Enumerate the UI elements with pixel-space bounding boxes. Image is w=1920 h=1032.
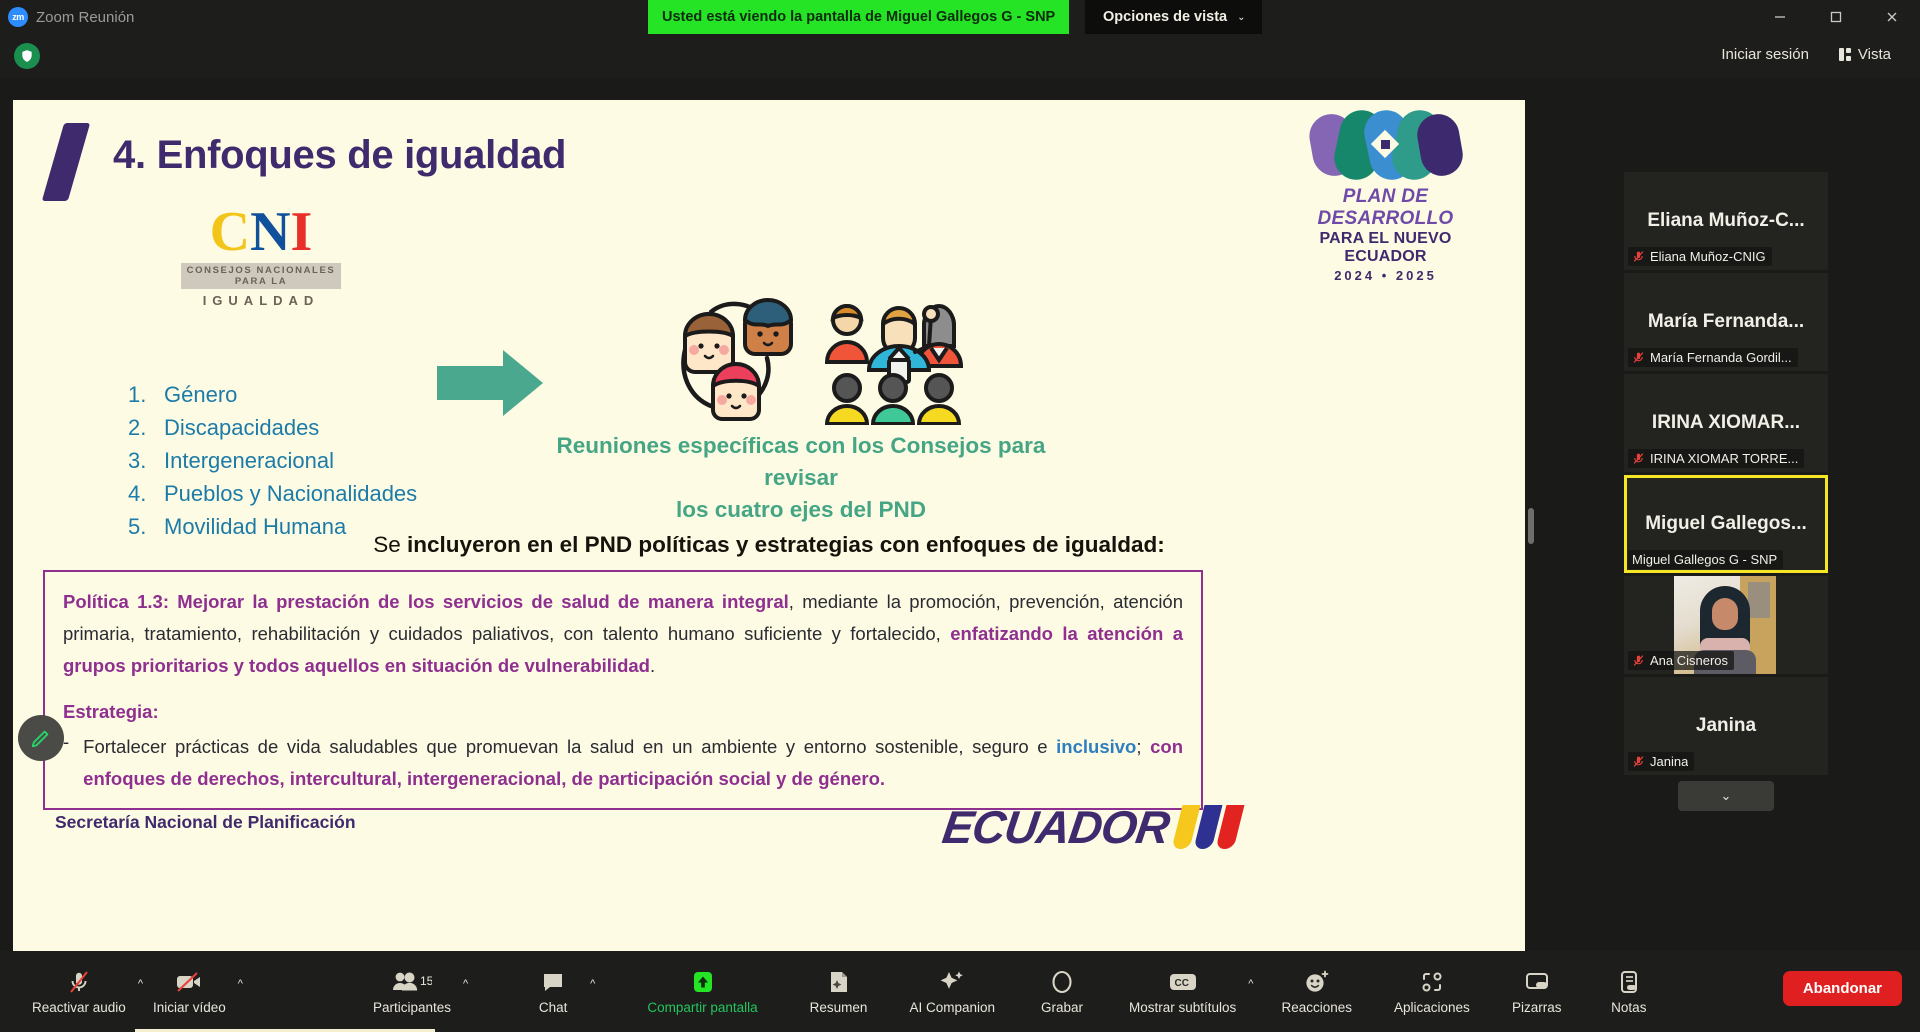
pnd-logo-line1: PLAN DE DESARROLLO — [1283, 186, 1488, 230]
strategy-text: Fortalecer prácticas de vida saludables … — [83, 731, 1183, 795]
leave-meeting-label: Abandonar — [1803, 980, 1882, 997]
participant-name-badge: Miguel Gallegos G - SNP — [1628, 550, 1783, 569]
chat-control-group: Chat ^ — [522, 957, 599, 1027]
audio-options-caret[interactable]: ^ — [134, 974, 147, 994]
chat-label: Chat — [539, 1000, 568, 1015]
participant-thumbnail-strip: Eliana Muñoz-C... Eliana Muñoz-CNIG Marí… — [1624, 172, 1828, 811]
included-statement-prefix: Se — [373, 532, 407, 557]
captions-control-group: CC Mostrar subtítulos ^ — [1123, 957, 1257, 1027]
mic-off-icon — [1632, 351, 1645, 364]
slide-accent-slash — [42, 123, 90, 201]
apps-label: Aplicaciones — [1394, 1000, 1470, 1015]
cni-subtitle-2: IGUALDAD — [181, 293, 341, 308]
participant-name-badge: IRINA XIOMAR TORRE... — [1628, 449, 1804, 468]
view-layout-label: Vista — [1858, 46, 1891, 63]
ecuador-logo: ECUADOR — [943, 800, 1239, 854]
participant-name-text: IRINA XIOMAR TORRE... — [1650, 451, 1798, 466]
screen-share-banner-text: Usted está viendo la pantalla de Miguel … — [662, 9, 1055, 25]
participant-name-text: Miguel Gallegos G - SNP — [1632, 552, 1777, 567]
mic-off-icon — [1632, 452, 1645, 465]
closed-captions-icon: CC — [1169, 969, 1197, 995]
leave-meeting-button[interactable]: Abandonar — [1783, 971, 1902, 1006]
chat-button[interactable]: Chat — [522, 957, 584, 1027]
start-video-label: Iniciar vídeo — [153, 1000, 226, 1015]
meeting-header-actions: Iniciar sesión Vista — [1710, 41, 1902, 68]
ai-companion-button[interactable]: AI Companion — [903, 957, 1001, 1027]
strategy-inclusivo: inclusivo — [1056, 736, 1136, 757]
chat-icon — [541, 969, 565, 995]
participant-tile[interactable]: Eliana Muñoz-C... Eliana Muñoz-CNIG — [1624, 172, 1828, 270]
participants-icon: 15 — [392, 969, 432, 995]
video-off-icon — [175, 969, 203, 995]
whiteboard-label: Pizarras — [1512, 1000, 1562, 1015]
mic-off-icon — [1632, 654, 1645, 667]
three-people-faces-illustration — [663, 290, 808, 430]
equality-approaches-list: 1. Género 2. Discapacidades 3. Intergene… — [128, 382, 417, 547]
pnd-logo-line2: PARA EL NUEVO ECUADOR — [1283, 230, 1488, 266]
meeting-toolbar: Reactivar audio ^ Iniciar vídeo ^ — [0, 951, 1920, 1032]
show-captions-label: Mostrar subtítulos — [1129, 1000, 1236, 1015]
ai-companion-icon — [939, 969, 965, 995]
cni-letter-i: I — [291, 201, 313, 263]
record-label: Grabar — [1041, 1000, 1083, 1015]
mic-off-icon — [1632, 755, 1645, 768]
layout-grid-icon — [1839, 48, 1851, 61]
strategy-bullet-row: - Fortalecer prácticas de vida saludable… — [63, 731, 1183, 795]
chat-options-caret[interactable]: ^ — [586, 974, 599, 994]
list-item-label: Género — [164, 382, 237, 408]
teal-caption-line-2: los cuatro ejes del PND — [551, 494, 1051, 526]
participant-tile[interactable]: IRINA XIOMAR... IRINA XIOMAR TORRE... — [1624, 374, 1828, 472]
reactions-label: Reacciones — [1281, 1000, 1352, 1015]
notes-label: Notas — [1611, 1000, 1646, 1015]
participant-tile-active-speaker[interactable]: Miguel Gallegos... Miguel Gallegos G - S… — [1624, 475, 1828, 573]
svg-text:15: 15 — [420, 974, 432, 988]
strategy-dash: - — [63, 731, 69, 795]
participants-options-caret[interactable]: ^ — [459, 974, 472, 994]
list-item-label: Intergeneracional — [164, 448, 334, 474]
participant-name-badge: María Fernanda Gordil... — [1628, 348, 1798, 367]
participant-name-badge: Eliana Muñoz-CNIG — [1628, 247, 1772, 266]
participant-name-text: Janina — [1650, 754, 1688, 769]
policy-highlight-1: Política 1.3: Mejorar la prestación de l… — [63, 591, 789, 612]
mic-off-icon — [67, 969, 91, 995]
participant-name-badge: Ana Cisneros — [1628, 651, 1734, 670]
participant-tile[interactable]: Ana Cisneros — [1624, 576, 1828, 674]
pnd-logo: PLAN DE DESARROLLO PARA EL NUEVO ECUADOR… — [1283, 100, 1488, 283]
maximize-button[interactable] — [1808, 0, 1864, 34]
whiteboard-button[interactable]: Pizarras — [1506, 957, 1568, 1027]
whiteboard-icon — [1524, 969, 1550, 995]
window-title: Zoom Reunión — [36, 9, 134, 26]
apps-icon — [1420, 969, 1444, 995]
record-button[interactable]: Grabar — [1031, 957, 1093, 1027]
ai-companion-label: AI Companion — [909, 1000, 995, 1015]
participants-button[interactable]: 15 Participantes — [367, 957, 457, 1027]
audience-group-illustration — [823, 290, 963, 430]
audio-control-group: Reactivar audio ^ — [26, 957, 147, 1027]
sign-in-button[interactable]: Iniciar sesión — [1710, 41, 1820, 68]
participants-label: Participantes — [373, 1000, 451, 1015]
list-item-number: 2. — [128, 415, 164, 441]
chevron-down-icon: ⌄ — [1237, 12, 1245, 23]
screen-share-banner: Usted está viendo la pantalla de Miguel … — [648, 0, 1069, 34]
encryption-shield-icon[interactable] — [14, 43, 40, 69]
notes-button[interactable]: Notas — [1598, 957, 1660, 1027]
list-item-number: 3. — [128, 448, 164, 474]
summary-label: Resumen — [810, 1000, 868, 1015]
list-item: 2. Discapacidades — [128, 415, 417, 441]
reactions-icon — [1304, 969, 1330, 995]
cni-subtitle-1: CONSEJOS NACIONALES PARA LA — [181, 263, 341, 289]
summary-button[interactable]: Resumen — [804, 957, 874, 1027]
cni-letter-n: N — [250, 201, 290, 263]
view-layout-button[interactable]: Vista — [1828, 41, 1902, 68]
participant-tile[interactable]: María Fernanda... María Fernanda Gordil.… — [1624, 273, 1828, 371]
scroll-down-participants-button[interactable]: ⌄ — [1678, 781, 1774, 811]
share-screen-button[interactable]: Compartir pantalla — [641, 957, 763, 1027]
window-titlebar: zm Zoom Reunión Usted está viendo la pan… — [0, 0, 1920, 34]
cni-letters: CNI — [181, 204, 341, 260]
pnd-logo-line3: 2024 • 2025 — [1283, 268, 1488, 283]
view-options-button[interactable]: Opciones de vista ⌄ — [1085, 0, 1262, 34]
list-item: 4. Pueblos y Nacionalidades — [128, 481, 417, 507]
chevron-down-icon: ⌄ — [1721, 788, 1732, 804]
window-controls — [1752, 0, 1920, 34]
record-icon — [1050, 969, 1074, 995]
slide-title: 4. Enfoques de igualdad — [113, 133, 566, 178]
show-captions-button[interactable]: CC Mostrar subtítulos — [1123, 957, 1242, 1027]
participant-name-text: Ana Cisneros — [1650, 653, 1728, 668]
reactions-button[interactable]: Reacciones — [1275, 957, 1358, 1027]
zoom-logo-icon: zm — [8, 7, 28, 27]
unmute-audio-label: Reactivar audio — [32, 1000, 126, 1015]
policy-body-2: . — [650, 655, 655, 676]
share-screen-icon — [690, 969, 716, 995]
teal-caption: Reuniones específicas con los Consejos p… — [551, 430, 1051, 526]
video-control-group: Iniciar vídeo ^ — [147, 957, 247, 1027]
start-video-button[interactable]: Iniciar vídeo — [147, 957, 232, 1027]
zoom-meeting-window: zm Zoom Reunión Usted está viendo la pan… — [0, 0, 1920, 1032]
notes-icon — [1618, 969, 1640, 995]
cni-letter-c: C — [210, 201, 250, 263]
video-options-caret[interactable]: ^ — [234, 974, 247, 994]
summary-icon — [828, 969, 850, 995]
list-item-label: Pueblos y Nacionalidades — [164, 481, 417, 507]
list-item-number: 4. — [128, 481, 164, 507]
meeting-header-bar: Iniciar sesión Vista — [0, 34, 1920, 78]
list-item: 1. Género — [128, 382, 417, 408]
participant-name-text: Eliana Muñoz-CNIG — [1650, 249, 1766, 264]
strategy-text-part-1: Fortalecer prácticas de vida saludables … — [83, 736, 1056, 757]
participant-name-text: María Fernanda Gordil... — [1650, 350, 1792, 365]
policy-paragraph: Política 1.3: Mejorar la prestación de l… — [63, 586, 1183, 681]
share-screen-label: Compartir pantalla — [647, 1000, 757, 1015]
mic-off-icon — [1632, 250, 1645, 263]
policy-box: Política 1.3: Mejorar la prestación de l… — [43, 570, 1203, 810]
sign-in-label: Iniciar sesión — [1721, 46, 1809, 63]
cni-logo: CNI CONSEJOS NACIONALES PARA LA IGUALDAD — [181, 204, 341, 308]
included-statement: Se incluyeron en el PND políticas y estr… — [13, 532, 1525, 558]
share-resize-handle[interactable] — [1528, 508, 1534, 544]
svg-text:CC: CC — [1174, 978, 1188, 989]
strategy-text-part-2: ; — [1136, 736, 1150, 757]
ecuador-wordmark: ECUADOR — [939, 800, 1172, 854]
list-item-number: 1. — [128, 382, 164, 408]
teal-caption-line-1: Reuniones específicas con los Consejos p… — [551, 430, 1051, 494]
view-options-label: Opciones de vista — [1103, 9, 1227, 25]
close-button[interactable] — [1864, 0, 1920, 34]
ecuador-flag-bars-icon — [1171, 805, 1244, 849]
right-arrow-icon — [437, 348, 545, 418]
annotate-pen-button[interactable] — [18, 715, 64, 761]
participant-name-badge: Janina — [1628, 752, 1694, 771]
participants-control-group: 15 Participantes ^ — [367, 957, 472, 1027]
apps-button[interactable]: Aplicaciones — [1388, 957, 1476, 1027]
captions-options-caret[interactable]: ^ — [1244, 974, 1257, 994]
strategy-label: Estrategia: — [63, 701, 1183, 723]
list-item-label: Discapacidades — [164, 415, 319, 441]
pnd-ribbon-icon — [1311, 106, 1461, 184]
list-item: 3. Intergeneracional — [128, 448, 417, 474]
shared-screen-content[interactable]: 4. Enfoques de igualdad PLAN DE DESARROL… — [13, 100, 1525, 951]
slide-footer-organization: Secretaría Nacional de Planificación — [55, 812, 356, 833]
unmute-audio-button[interactable]: Reactivar audio — [26, 957, 132, 1027]
participant-tile[interactable]: Janina Janina — [1624, 677, 1828, 775]
minimize-button[interactable] — [1752, 0, 1808, 34]
included-statement-bold: incluyeron en el PND políticas y estrate… — [407, 532, 1165, 557]
